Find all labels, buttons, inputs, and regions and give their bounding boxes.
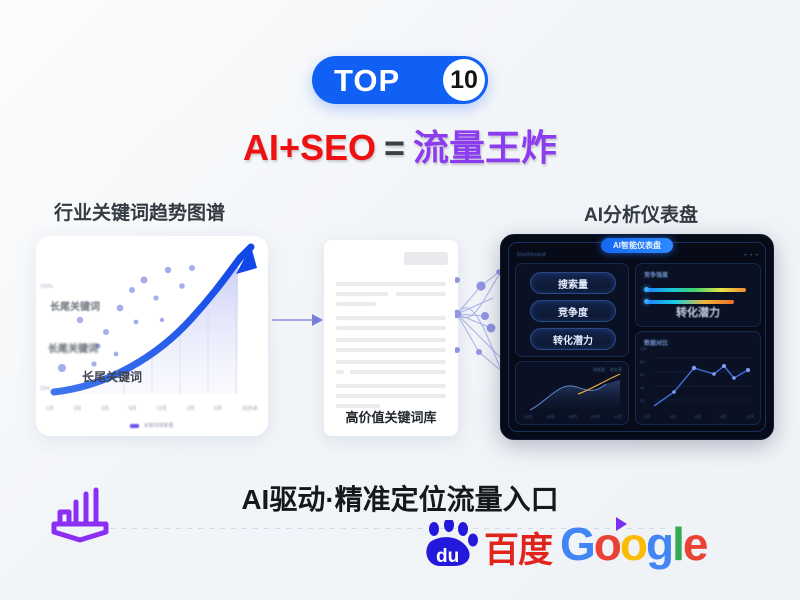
metric-button-search-volume[interactable]: 搜索量 (530, 272, 616, 294)
trend-x-tick-0: 1月 (46, 405, 54, 412)
metric-button-conversion[interactable]: 转化潜力 (530, 328, 616, 350)
area-x-tick-4: 12月 (614, 414, 622, 420)
ai-dashboard-card: AI智能仪表盘 Dashboard • • • 搜索量 竞争度 转化潜力 竞争强… (500, 234, 774, 440)
line-x-tick-1: 3月 (669, 414, 675, 420)
slide-canvas: TOP 10 AI+SEO=流量王炸 行业关键词趋势图谱 AI分析仪表盘 (0, 0, 800, 600)
svg-text:du: du (436, 546, 459, 567)
top-badge-word: TOP (334, 65, 400, 96)
google-logo: Google (560, 521, 706, 567)
trend-legend: 关键词搜索量 (36, 422, 268, 429)
trend-chart: 长尾关键词 长尾关键词 长尾关键词 100% 25% 1月 3月 6月 9月 1… (36, 236, 268, 436)
gauge-bar-1 (646, 288, 746, 292)
baidu-logo-text: 百度 (484, 533, 552, 568)
dashboard-menu-icon[interactable]: • • • (744, 253, 759, 259)
bar-chart-pedestal-icon (44, 484, 126, 548)
area-x-tick-1: 03月 (546, 414, 554, 420)
trend-chart-card: 长尾关键词 长尾关键词 长尾关键词 100% 25% 1月 3月 6月 9月 1… (36, 236, 268, 436)
line-x-tick-3: 9月 (720, 414, 726, 420)
line-panel-x-axis: 1月 3月 6月 9月 12月 (644, 414, 754, 420)
baidu-paw-icon: du (420, 520, 482, 568)
gauge-dot-1-icon (644, 287, 649, 292)
partner-logos: du 百度 Google (420, 520, 707, 568)
trend-x-tick-7: 2025年 (242, 405, 258, 412)
trend-keyword-label-1: 长尾关键词 (50, 298, 100, 313)
doc-header-chip (404, 252, 448, 265)
metric-button-competition[interactable]: 竞争度 (530, 300, 616, 322)
headline-left: AI+SEO (243, 127, 376, 168)
trend-legend-label: 关键词搜索量 (143, 422, 173, 429)
right-section-caption: AI分析仪表盘 (584, 200, 698, 227)
trend-x-tick-4: 12月 (156, 405, 167, 412)
line-x-tick-4: 12月 (746, 414, 754, 420)
baidu-logo: du 百度 (420, 520, 552, 568)
area-x-tick-3: 09月 (591, 414, 599, 420)
headline-equals: = (384, 127, 405, 168)
headline-right: 流量王炸 (413, 127, 557, 168)
trend-keyword-label-2: 长尾关键词 (48, 340, 98, 355)
metrics-panel: 搜索量 竞争度 转化潜力 (515, 263, 629, 357)
page-title: AI+SEO=流量王炸 (0, 128, 800, 168)
top-badge: TOP 10 (312, 56, 488, 104)
dashboard-title: AI智能仪表盘 (601, 238, 673, 253)
keyword-document-card: 高价值关键词库 (324, 240, 458, 436)
dashboard-subtitle: Dashboard (517, 252, 546, 258)
line-chart-svg (636, 332, 760, 424)
legend-swatch-icon (130, 424, 139, 428)
doc-card-label: 高价值关键词库 (324, 407, 458, 426)
left-section-caption: 行业关键词趋势图谱 (54, 198, 225, 225)
trend-x-axis: 1月 3月 6月 9月 12月 3月 6月 2025年 (46, 405, 258, 412)
trend-y-tick-3: 25% (40, 386, 50, 392)
trend-x-tick-6: 6月 (214, 405, 222, 412)
trend-x-tick-1: 3月 (74, 405, 82, 412)
top-badge-number: 10 (450, 68, 478, 93)
line-chart-panel: 数据对比 100 80 60 40 20 (635, 331, 761, 425)
trend-x-tick-2: 6月 (101, 405, 109, 412)
top-badge-number-circle: 10 (443, 59, 485, 101)
trend-keyword-label-3: 长尾关键词 (82, 368, 142, 385)
area-chart-panel: 搜索量 转化率 01月 03月 06月 09月 12月 (515, 361, 629, 425)
area-x-tick-2: 06月 (569, 414, 577, 420)
area-x-tick-0: 01月 (524, 414, 532, 420)
google-play-triangle-icon (616, 517, 627, 531)
trend-y-tick-0: 100% (40, 284, 53, 290)
google-letter-0: G (560, 518, 594, 570)
gauge-panel: 竞争强度 转化潜力 (635, 263, 761, 327)
google-letter-3: g (646, 518, 672, 570)
flow-arrow-1-icon (272, 312, 324, 328)
google-letter-5: e (683, 518, 707, 570)
gauge-panel-title: 竞争强度 (644, 270, 668, 279)
area-panel-x-axis: 01月 03月 06月 09月 12月 (524, 414, 622, 420)
google-letter-4: l (672, 518, 683, 570)
trend-x-tick-5: 3月 (187, 405, 195, 412)
line-x-tick-2: 6月 (695, 414, 701, 420)
trend-x-tick-3: 9月 (129, 405, 137, 412)
line-x-tick-0: 1月 (644, 414, 650, 420)
gauge-overlay-label: 转化潜力 (636, 304, 760, 320)
